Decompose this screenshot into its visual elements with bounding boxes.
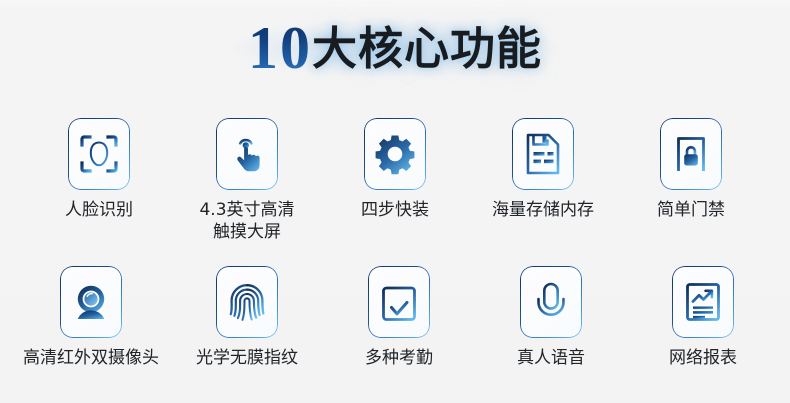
calendar-check-icon (379, 281, 419, 323)
page-title: 10大核心功能 (0, 18, 790, 98)
feature-item-face-recognition[interactable]: 人脸识别 (25, 118, 173, 221)
feature-overview-page: 10大核心功能 (0, 0, 790, 403)
touch-screen-icon (227, 133, 267, 175)
feature-label: 海量存储内存 (492, 199, 594, 221)
icon-frame (520, 266, 582, 338)
feature-label: 网络报表 (669, 347, 737, 369)
feature-label: 简单门禁 (657, 199, 725, 221)
icon-frame (368, 266, 430, 338)
feature-item-touch-screen[interactable]: 4.3英寸高清 触摸大屏 (173, 118, 321, 243)
feature-item-attendance[interactable]: 多种考勤 (323, 266, 475, 369)
icon-frame (216, 266, 278, 338)
feature-item-fingerprint[interactable]: 光学无膜指纹 (171, 266, 323, 369)
face-recognition-icon (79, 134, 119, 174)
microphone-icon (532, 281, 570, 323)
feature-label: 4.3英寸高清 触摸大屏 (199, 199, 294, 243)
chart-report-icon (683, 281, 723, 323)
icon-frame (364, 118, 426, 190)
feature-label: 高清红外双摄像头 (23, 347, 159, 369)
feature-label: 人脸识别 (65, 199, 133, 221)
icon-frame (68, 118, 130, 190)
fingerprint-icon (227, 280, 267, 324)
feature-label: 多种考勤 (365, 347, 433, 369)
webcam-icon (70, 281, 112, 323)
feature-label: 真人语音 (517, 347, 585, 369)
feature-row-2: 高清红外双摄像头 (0, 266, 790, 369)
feature-label: 四步快装 (361, 199, 429, 221)
feature-item-quick-install[interactable]: 四步快装 (321, 118, 469, 221)
icon-frame (216, 118, 278, 190)
feature-item-voice[interactable]: 真人语音 (475, 266, 627, 369)
icon-frame (512, 118, 574, 190)
icon-frame (60, 266, 122, 338)
icon-frame (672, 266, 734, 338)
feature-item-storage[interactable]: 海量存储内存 (469, 118, 617, 221)
feature-item-access-control[interactable]: 简单门禁 (617, 118, 765, 221)
floppy-document-icon (523, 132, 563, 176)
feature-row-1: 人脸识别 4.3英寸高清 触摸大屏 (0, 118, 790, 243)
feature-label: 光学无膜指纹 (196, 347, 298, 369)
feature-item-report[interactable]: 网络报表 (627, 266, 779, 369)
title-number: 10 (248, 15, 312, 81)
title-text-group: 10大核心功能 (248, 18, 542, 78)
feature-item-camera[interactable]: 高清红外双摄像头 (11, 266, 171, 369)
gear-icon (374, 133, 416, 175)
title-label: 大核心功能 (312, 22, 542, 75)
door-lock-icon (671, 133, 711, 175)
icon-frame (660, 118, 722, 190)
